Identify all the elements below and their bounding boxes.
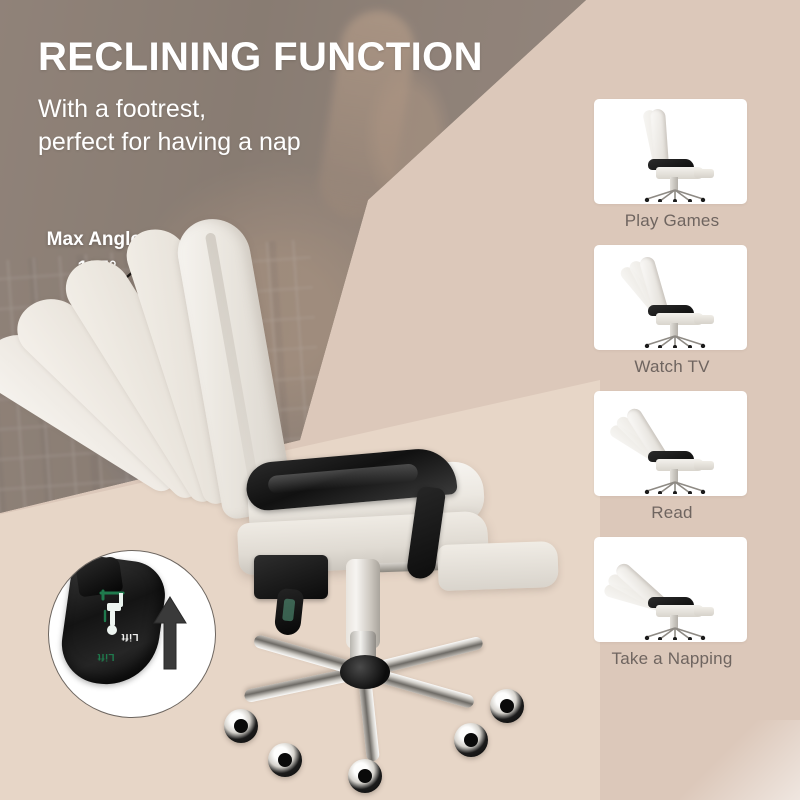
scenario-card-read[interactable]: Read — [594, 391, 750, 525]
scenario-thumbnail — [594, 537, 747, 642]
main-chair-illustration — [150, 225, 580, 770]
scenario-label: Play Games — [594, 204, 750, 233]
product-feature-image: RECLINING FUNCTION With a footrest, perf… — [0, 0, 800, 800]
lever-lift-label: Lift — [121, 631, 139, 642]
mini-chair-footrest — [694, 461, 714, 470]
chair-caster — [490, 689, 524, 723]
chair-caster — [348, 759, 382, 793]
mini-chair-footrest — [694, 169, 714, 178]
mini-chair-footrest — [694, 607, 714, 616]
up-arrow-icon — [153, 595, 187, 671]
chair-caster — [454, 723, 488, 757]
scenario-thumbnail — [594, 245, 747, 350]
mini-chair-illustration — [594, 391, 747, 496]
lever-detail-inset: Lift Lift — [48, 550, 216, 718]
scenario-card-take-a-napping[interactable]: Take a Napping — [594, 537, 750, 671]
page-subtitle: With a footrest, perfect for having a na… — [38, 93, 301, 159]
chair-base-hub — [340, 655, 390, 689]
mini-chair-base — [644, 189, 706, 202]
page-subtitle-line-2: perfect for having a nap — [38, 126, 301, 159]
chair-caster — [268, 743, 302, 777]
lever-lift-label-green: Lift — [97, 651, 115, 662]
mini-chair-base — [644, 481, 706, 494]
mini-chair-footrest — [694, 315, 714, 324]
scenario-card-play-games[interactable]: Play Games — [594, 99, 750, 233]
mini-chair-illustration — [594, 245, 747, 350]
chair-caster — [224, 709, 258, 743]
mini-chair-base — [644, 627, 706, 640]
mini-chair-illustration — [594, 99, 747, 204]
scenario-thumbnail — [594, 99, 747, 204]
scenario-label: Read — [594, 496, 750, 525]
scenario-card-list: Play Games — [594, 99, 750, 683]
scenario-thumbnail — [594, 391, 747, 496]
scenario-label: Watch TV — [594, 350, 750, 379]
scenario-label: Take a Napping — [594, 642, 750, 671]
mini-chair-base — [644, 335, 706, 348]
chair-footrest — [437, 541, 559, 591]
chair-height-lever — [274, 588, 305, 636]
scenario-card-watch-tv[interactable]: Watch TV — [594, 245, 750, 379]
page-subtitle-line-1: With a footrest, — [38, 93, 301, 126]
page-title: RECLINING FUNCTION — [38, 36, 483, 78]
mini-chair-illustration — [594, 537, 747, 642]
